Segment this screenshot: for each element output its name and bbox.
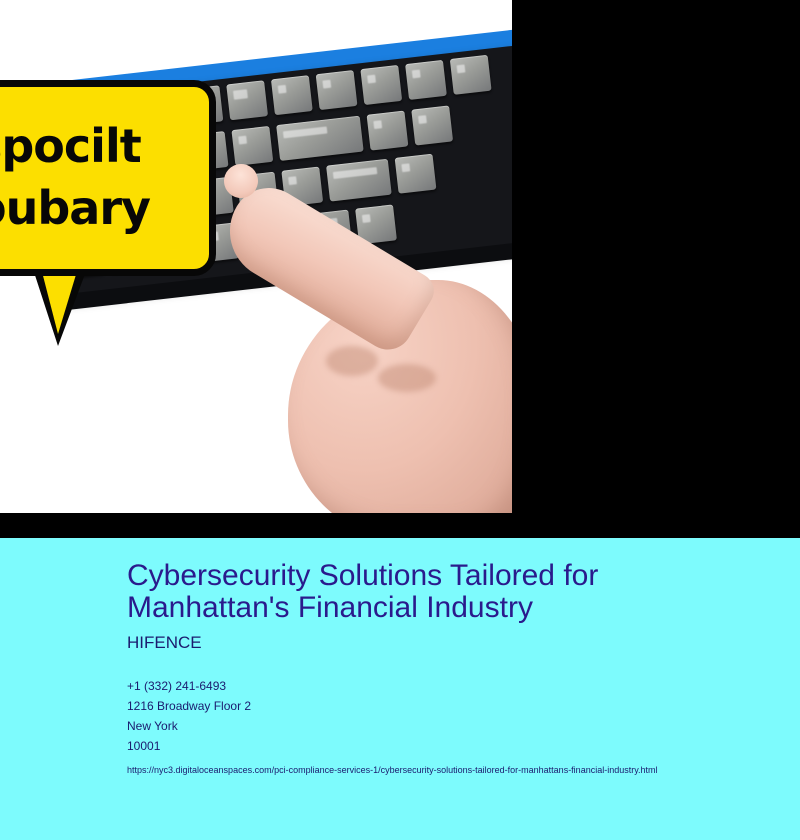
- contact-city: New York: [127, 716, 787, 736]
- knuckle: [378, 364, 436, 392]
- hero-image: spocilt oubary: [0, 0, 512, 513]
- speech-bubble: spocilt oubary: [0, 80, 224, 300]
- source-url[interactable]: https://nyc3.digitaloceanspaces.com/pci-…: [127, 764, 787, 776]
- hero-band: spocilt oubary: [0, 0, 800, 538]
- info-content: Cybersecurity Solutions Tailored for Man…: [127, 560, 787, 776]
- keyboard-key: [271, 75, 313, 115]
- contact-phone: +1 (332) 241-6493: [127, 676, 787, 696]
- contact-block: +1 (332) 241-6493 1216 Broadway Floor 2 …: [127, 676, 787, 756]
- key-glyph: [322, 80, 331, 89]
- keyboard-key: [405, 60, 447, 100]
- speech-bubble-tail: [32, 266, 88, 346]
- key-glyph: [278, 85, 287, 94]
- speech-bubble-body: spocilt oubary: [0, 80, 216, 276]
- keyboard-key: [450, 55, 492, 95]
- keyboard-key: [226, 80, 268, 120]
- keyboard-key: [367, 111, 409, 151]
- page-title: Cybersecurity Solutions Tailored for Man…: [127, 560, 687, 624]
- key-glyph: [283, 126, 328, 138]
- keyboard-key: [360, 65, 402, 105]
- key-glyph: [418, 115, 427, 124]
- keyboard-key: [411, 105, 453, 145]
- info-band: Cybersecurity Solutions Tailored for Man…: [0, 538, 800, 840]
- contact-address: 1216 Broadway Floor 2: [127, 696, 787, 716]
- key-glyph: [238, 136, 247, 145]
- key-glyph: [233, 89, 248, 100]
- speech-bubble-line-1: spocilt: [0, 115, 223, 177]
- key-glyph: [367, 75, 376, 84]
- brand-name: HIFENCE: [127, 633, 787, 653]
- key-glyph: [373, 120, 382, 129]
- hand-illustration: [228, 150, 512, 513]
- key-glyph: [457, 64, 466, 73]
- speech-bubble-line-2: oubary: [0, 177, 223, 239]
- knuckle: [326, 346, 378, 376]
- key-glyph: [412, 70, 421, 79]
- keyboard-key: [316, 70, 358, 110]
- page-root: spocilt oubary Cybersecurity Solutions T…: [0, 0, 800, 840]
- contact-postal-code: 10001: [127, 736, 787, 756]
